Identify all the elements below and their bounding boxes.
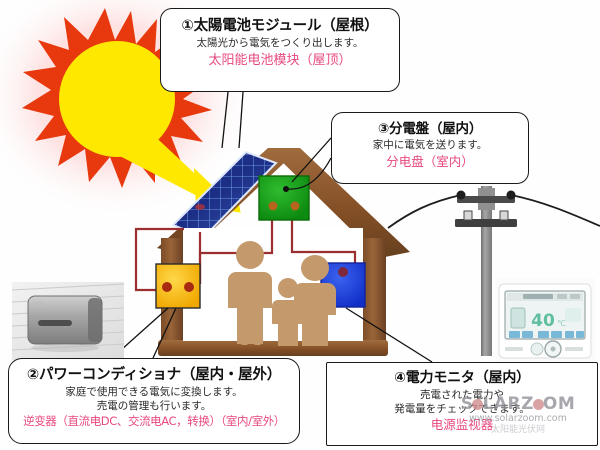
callout-solar-module-desc: 太陽光から電気をつくり出します。 — [166, 36, 394, 51]
callout-power-monitor-title: ④電力モニタ（屋内） — [332, 369, 592, 388]
callout-power-monitor-desc1: 売電された電力や — [332, 388, 592, 402]
power-monitor-photo: 40 ℃ — [495, 278, 595, 364]
power-conditioner-box — [156, 264, 200, 308]
callout-power-monitor-cn: 电源监视器 — [332, 416, 592, 433]
callout-distribution-board: ③分電盤（屋内） 家中に電気を送ります。 分电盘（室内） — [331, 112, 529, 184]
callout-power-conditioner-cn: 逆变器（直流电DC、交流电AC，转换）（室内/室外） — [14, 413, 294, 429]
callout-power-monitor: ④電力モニタ（屋内） 売電された電力や 発電量をチェックできます。 电源监视器 — [326, 362, 598, 446]
callout-distribution-board-cn: 分电盘（室内） — [337, 153, 523, 171]
callout-distribution-board-title: ③分電盤（屋内） — [337, 120, 523, 138]
callout-solar-module: ①太陽電池モジュール（屋根） 太陽光から電気をつくり出します。 太阳能电池模块（… — [160, 8, 400, 92]
callout-power-conditioner-desc1: 家庭で使用できる電気に変換します。 — [14, 385, 294, 399]
power-conditioner-photo — [12, 282, 124, 360]
callout-power-monitor-desc2: 発電量をチェックできます。 — [332, 402, 592, 416]
callout-power-conditioner: ②パワーコンディショナ（屋内・屋外） 家庭で使用できる電気に変換します。 売電の… — [8, 358, 300, 444]
monitor-value: 40 — [531, 311, 555, 331]
diagram-canvas: 40 ℃ ①太陽電池モジュール（屋根） 太陽光から電気をつくり出します。 太阳能… — [0, 0, 600, 450]
callout-distribution-board-desc: 家中に電気を送ります。 — [337, 138, 523, 153]
callout-solar-module-title: ①太陽電池モジュール（屋根） — [166, 17, 394, 36]
callout-power-conditioner-title: ②パワーコンディショナ（屋内・屋外） — [14, 365, 294, 385]
callout-solar-module-cn: 太阳能电池模块（屋顶） — [166, 51, 394, 70]
callout-power-conditioner-desc2: 売電の管理も行います。 — [14, 399, 294, 413]
distribution-board-box — [259, 176, 309, 220]
house-floor-beam — [158, 340, 388, 356]
monitor-unit: ℃ — [557, 319, 566, 328]
